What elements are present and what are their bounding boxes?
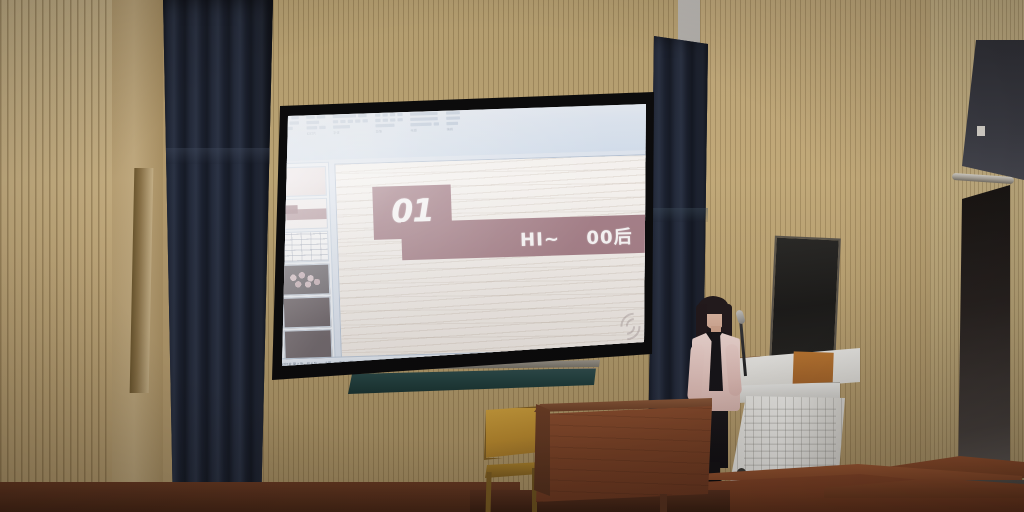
slide-thumbnail[interactable] <box>282 166 326 198</box>
slide-heading-banner: HI~ 00后 <box>401 214 646 260</box>
ribbon-group-drawing[interactable]: 绘图 <box>410 112 439 133</box>
slide-thumbnail[interactable] <box>282 264 330 296</box>
left-curtain-tieband <box>166 148 270 164</box>
ribbon-group-label: 字体 <box>333 129 368 134</box>
lectern-vent <box>744 404 836 466</box>
powerpoint-window[interactable]: 文件 开始 插入 设计 切换 动画 幻灯片放映 审阅 视图 剪贴板 <box>282 104 646 366</box>
doorway[interactable] <box>958 185 1010 485</box>
swirl-logo-icon <box>612 308 646 345</box>
slide-thumbnail[interactable] <box>282 231 329 263</box>
slide-heading: HI~ 00后 <box>519 221 633 251</box>
wall-left <box>0 0 112 512</box>
ribbon-group-paragraph[interactable]: 段落 <box>375 113 403 134</box>
slide-thumbnail-pane[interactable] <box>282 162 336 365</box>
ribbon-group-editing[interactable]: 编辑 <box>446 111 460 131</box>
desk-side <box>534 404 550 496</box>
ribbon-group-label: 段落 <box>376 128 404 133</box>
projection-screen[interactable]: 文件 开始 插入 设计 切换 动画 幻灯片放映 审阅 视图 剪贴板 <box>282 104 646 366</box>
wall-switch[interactable] <box>977 126 985 136</box>
ribbon-group-label: 幻灯片 <box>307 131 326 136</box>
slide-thumbnail[interactable] <box>282 198 327 230</box>
foreground-desk[interactable] <box>534 398 712 512</box>
floor-left <box>0 482 520 512</box>
editor-body: 01 HI~ 00后 <box>282 150 646 366</box>
ribbon-group-font[interactable]: 字体 <box>333 114 369 135</box>
right-curtain-tieband <box>650 208 708 222</box>
chair-leg-left <box>485 472 491 512</box>
desk-leg <box>660 494 667 512</box>
lecture-hall-scene: 文件 开始 插入 设计 切换 动画 幻灯片放映 审阅 视图 剪贴板 <box>0 0 1024 512</box>
desk-front <box>536 406 712 502</box>
ribbon-group-slides[interactable]: 幻灯片 <box>306 115 326 135</box>
slide-thumbnail[interactable] <box>282 297 331 329</box>
ribbon-group-label: 绘图 <box>411 127 440 132</box>
slide-canvas[interactable]: 01 HI~ 00后 <box>334 154 646 361</box>
ribbon-group-label: 编辑 <box>447 127 461 132</box>
wall-speaker-panel <box>769 236 841 365</box>
left-curtain <box>163 0 273 512</box>
